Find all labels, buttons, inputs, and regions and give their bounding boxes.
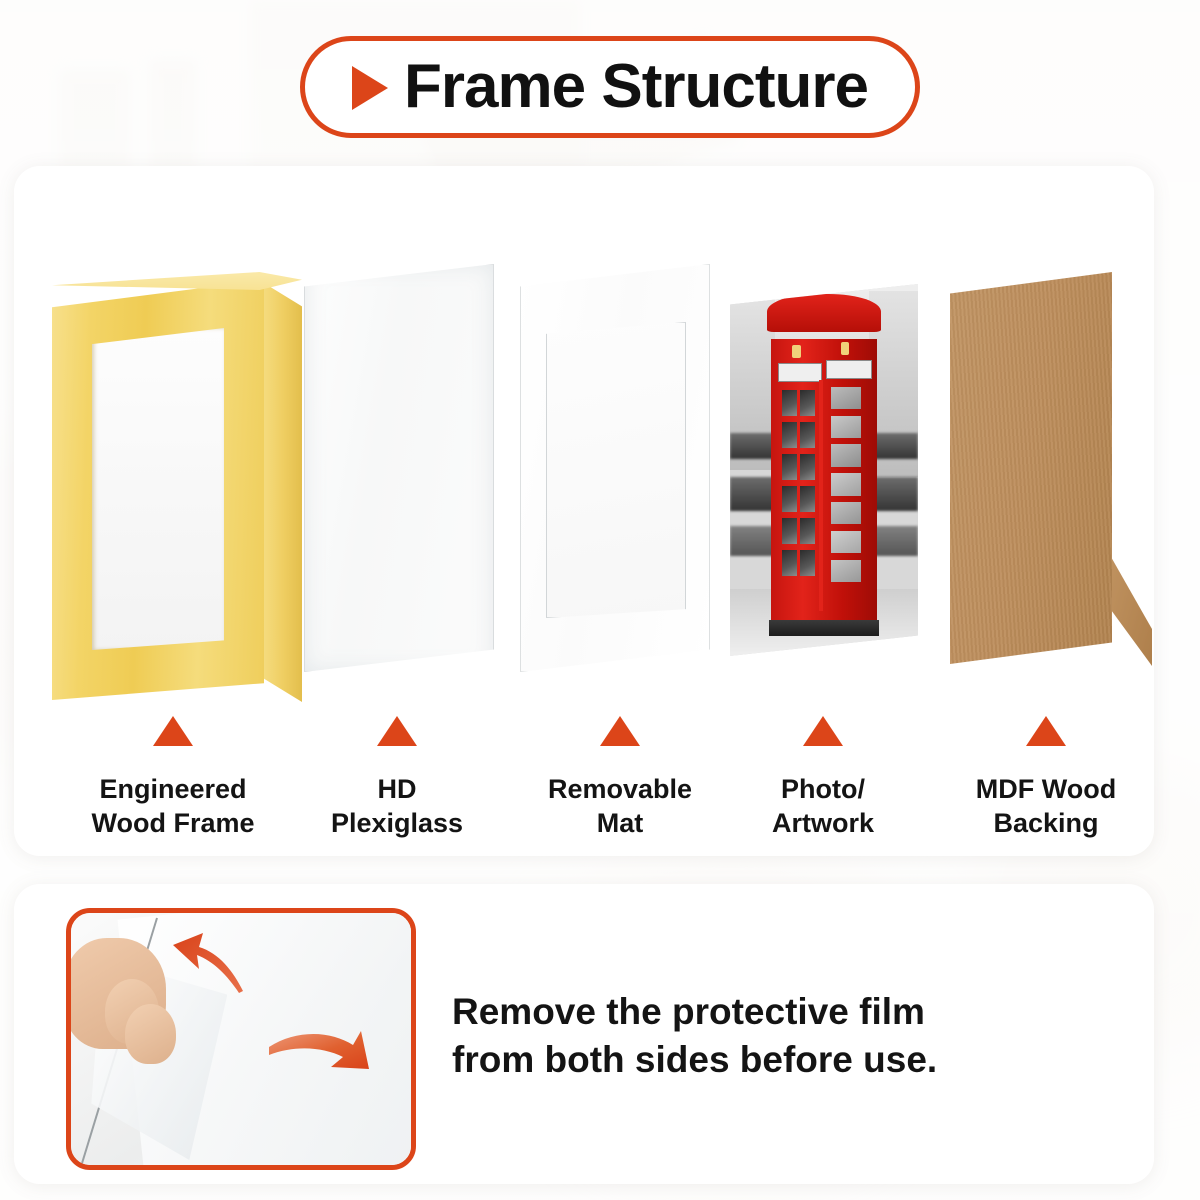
frame-side-edge (260, 272, 302, 702)
caption-line-2: Artwork (708, 806, 938, 840)
infographic-canvas: Frame Structure (0, 0, 1200, 1200)
booth-crown-emblem (841, 342, 849, 355)
booth-window-pane (800, 486, 815, 512)
artwork-telephone-booth (771, 310, 876, 630)
booth-window-pane (831, 502, 860, 524)
booth-window-pane (782, 486, 797, 512)
booth-window-pane (800, 550, 815, 576)
booth-door-mullion (819, 380, 824, 610)
booth-telephone-sign (778, 363, 822, 383)
booth-roof (767, 294, 881, 332)
play-triangle-icon (352, 66, 388, 110)
booth-telephone-sign (826, 360, 872, 380)
caption-photo-artwork: Photo/ Artwork (708, 772, 938, 840)
page-title-pill: Frame Structure (300, 36, 920, 138)
caption-line-1: Removable (505, 772, 735, 806)
part-engineered-wood-frame (52, 232, 302, 700)
protective-film-note: Remove the protective film from both sid… (452, 988, 1012, 1084)
booth-window-pane (831, 387, 860, 409)
thumb (125, 1004, 176, 1064)
marker-triangle-engineered-wood-frame (153, 716, 193, 746)
booth-window-pane (831, 531, 860, 553)
page-title: Frame Structure (404, 56, 868, 118)
caption-hd-plexiglass: HD Plexiglass (282, 772, 512, 840)
booth-window-pane (782, 454, 797, 480)
caption-line-1: MDF Wood (931, 772, 1161, 806)
caption-mdf-wood-backing: MDF Wood Backing (931, 772, 1161, 840)
booth-window-pane (782, 422, 797, 448)
artwork-image (730, 284, 918, 656)
marker-triangle-photo-artwork (803, 716, 843, 746)
frame-inner-opening (92, 328, 224, 650)
caption-line-2: Mat (505, 806, 735, 840)
booth-window-pane (831, 560, 860, 582)
caption-removable-mat: Removable Mat (505, 772, 735, 840)
caption-line-1: Engineered (58, 772, 288, 806)
caption-line-1: HD (282, 772, 512, 806)
booth-window-pane (800, 518, 815, 544)
part-removable-mat (520, 264, 710, 672)
booth-window-pane (782, 550, 797, 576)
marker-triangle-hd-plexiglass (377, 716, 417, 746)
part-photo-artwork (730, 284, 918, 656)
booth-body (771, 339, 876, 630)
booth-window-pane (782, 390, 797, 416)
booth-window-pane (831, 444, 860, 466)
caption-line-2: Backing (931, 806, 1161, 840)
booth-window-pane (831, 416, 860, 438)
plexiglass-sheet (304, 264, 494, 672)
film-note-line-2: from both sides before use. (452, 1036, 1012, 1084)
caption-line-2: Wood Frame (58, 806, 288, 840)
booth-window-pane (800, 390, 815, 416)
booth-window-pane (831, 473, 860, 495)
caption-line-1: Photo/ (708, 772, 938, 806)
film-note-line-1: Remove the protective film (452, 988, 1012, 1036)
booth-base (769, 620, 878, 636)
backing-board (950, 272, 1112, 664)
caption-engineered-wood-frame: Engineered Wood Frame (58, 772, 288, 840)
booth-crown-emblem (792, 345, 800, 358)
curved-arrow-down-right-icon (267, 1025, 371, 1083)
mat-window-cutout (546, 322, 686, 618)
marker-triangle-mdf-wood-backing (1026, 716, 1066, 746)
part-mdf-wood-backing (950, 272, 1112, 664)
curved-arrow-up-left-icon (169, 931, 245, 997)
marker-triangle-removable-mat (600, 716, 640, 746)
protective-film-photo (66, 908, 416, 1170)
part-hd-plexiglass (304, 264, 494, 672)
booth-window-pane (782, 518, 797, 544)
booth-window-pane (800, 422, 815, 448)
booth-window-pane (800, 454, 815, 480)
caption-line-2: Plexiglass (282, 806, 512, 840)
